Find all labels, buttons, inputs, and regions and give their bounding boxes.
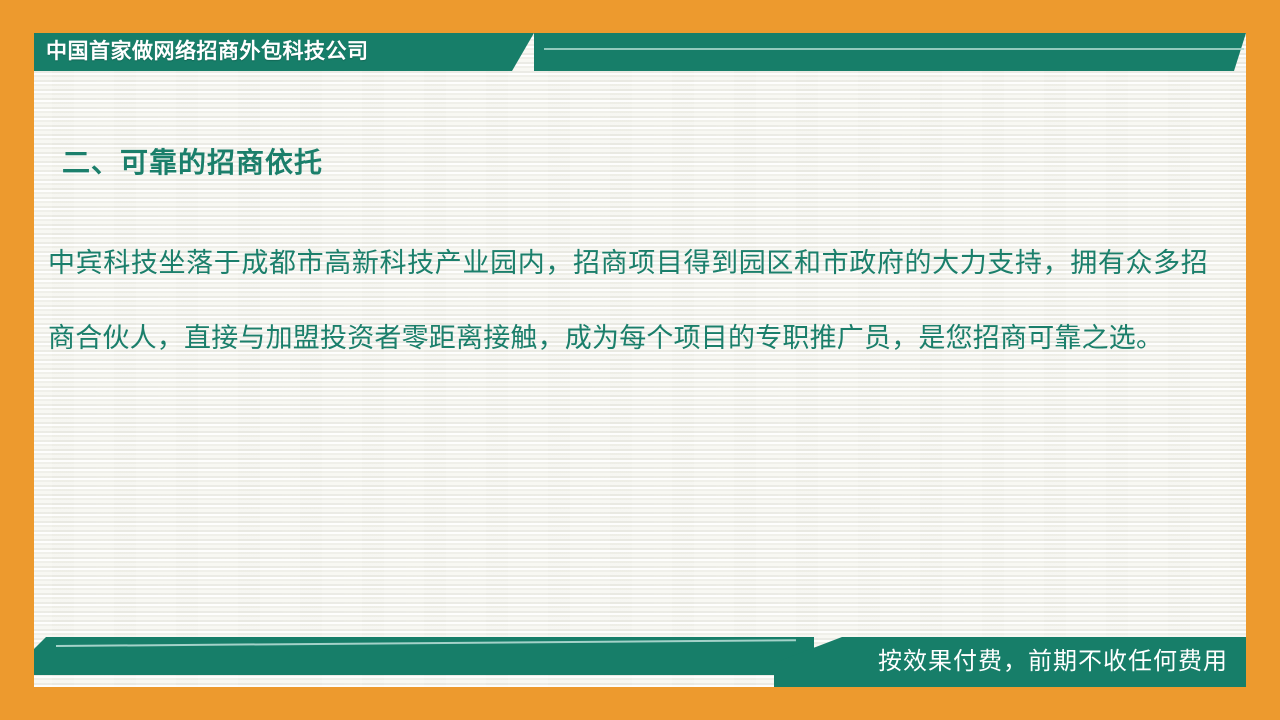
presentation-slide: 中国首家做网络招商外包科技公司 二、可靠的招商依托 中宾科技坐落于成都市高新科技… xyxy=(0,0,1280,720)
header-band: 中国首家做网络招商外包科技公司 xyxy=(34,33,1246,71)
header-hairline-divider xyxy=(544,48,1244,50)
footer-band: 按效果付费，前期不收任何费用 xyxy=(34,625,1246,687)
company-slogan-title: 中国首家做网络招商外包科技公司 xyxy=(46,33,369,71)
section-heading: 二、可靠的招商依托 xyxy=(62,141,323,181)
footer-tagline: 按效果付费，前期不收任何费用 xyxy=(878,637,1228,687)
body-paragraph: 中宾科技坐落于成都市高新科技产业园内，招商项目得到园区和市政府的大力支持，拥有众… xyxy=(48,226,1208,376)
slide-content: 二、可靠的招商依托 中宾科技坐落于成都市高新科技产业园内，招商项目得到园区和市政… xyxy=(34,71,1246,631)
footer-tagline-block: 按效果付费，前期不收任何费用 xyxy=(774,625,1246,687)
header-accent-bar xyxy=(534,33,1246,71)
